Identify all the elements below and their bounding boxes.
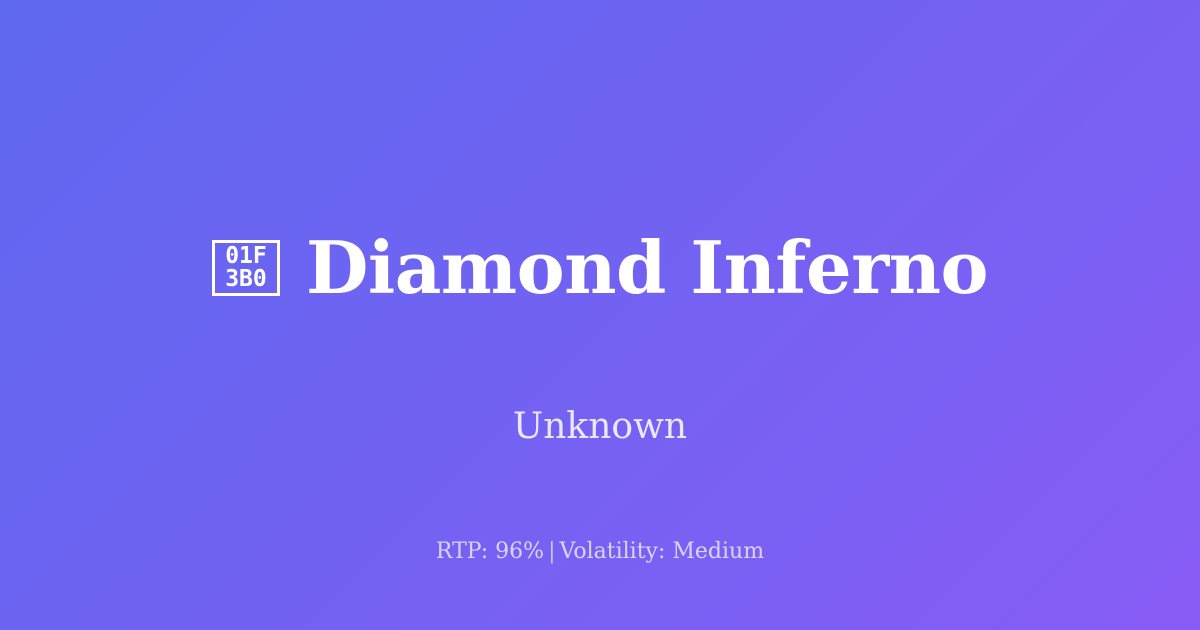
tofu-codepoint-bottom: 3B0 [225, 268, 267, 291]
title-row: 01F 3B0 Diamond Inferno [0, 181, 1200, 353]
game-og-card: 01F 3B0 Diamond Inferno Unknown RTP: 96%… [0, 0, 1200, 630]
volatility-label: Volatility: Medium [560, 539, 765, 564]
meta-separator: | [544, 539, 559, 564]
tofu-codepoint-top: 01F [225, 245, 267, 268]
game-title: Diamond Inferno [306, 230, 988, 306]
rtp-label: RTP: 96% [436, 539, 544, 564]
game-provider: Unknown [513, 405, 687, 448]
slot-machine-emoji-tofu-icon: 01F 3B0 [212, 240, 280, 296]
game-meta: RTP: 96%|Volatility: Medium [0, 538, 1200, 567]
